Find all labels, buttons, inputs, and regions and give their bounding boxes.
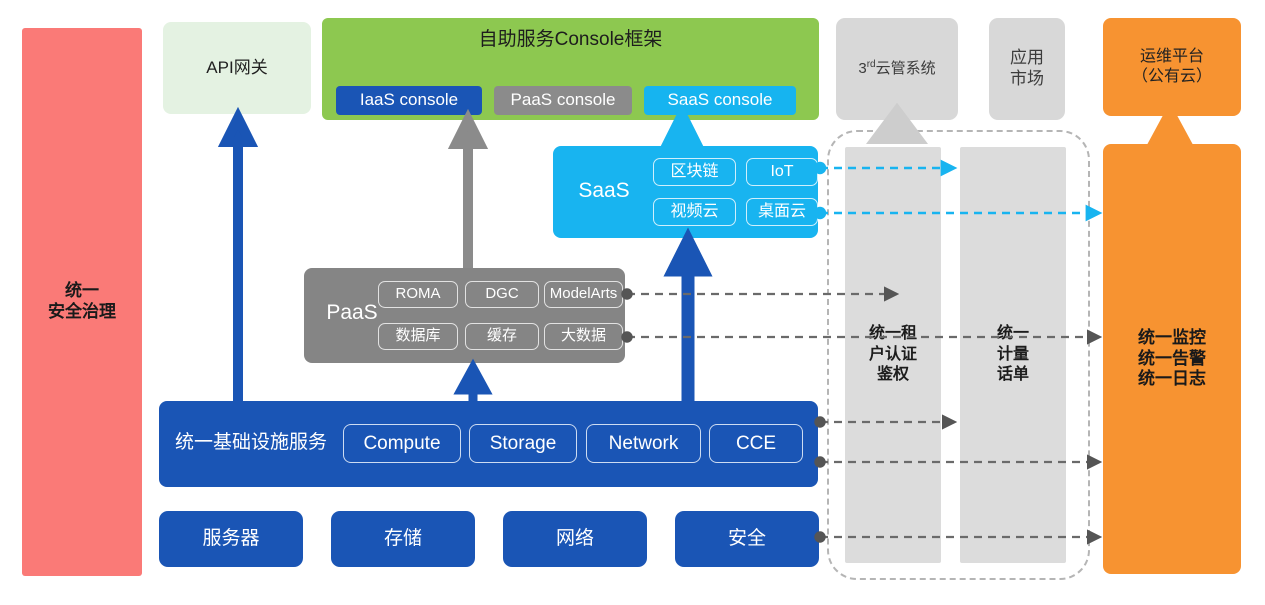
ops-panel-line-3: 统一日志 — [1138, 369, 1206, 388]
hardware-storage-label: 存储 — [384, 527, 422, 550]
paas-chip-dgc-label: DGC — [485, 285, 518, 303]
paas-chip-modelarts[interactable]: ModelArts — [544, 281, 623, 308]
auth-line-1: 统一租 — [869, 325, 917, 342]
saas-chip-desktop-cloud-label: 桌面云 — [758, 202, 806, 222]
ops-platform-label: 运维平台 （公有云） — [1132, 47, 1212, 86]
ops-monitoring-label: 统一监控 统一告警 统一日志 — [1138, 328, 1206, 390]
paas-chip-database[interactable]: 数据库 — [378, 323, 458, 350]
arrow-paas-to-console — [456, 120, 480, 268]
infra-chip-storage-label: Storage — [490, 432, 557, 455]
paas-layer-box: PaaS ROMA DGC ModelArts 数据库 缓存 大数据 — [304, 268, 625, 363]
hardware-box-server[interactable]: 服务器 — [159, 511, 303, 567]
arrow-to-ops-platform — [1157, 116, 1183, 144]
auth-column-label: 统一租 户认证 鉴权 — [869, 324, 917, 386]
auth-line-3: 鉴权 — [877, 366, 909, 383]
ops-monitoring-panel: 统一监控 统一告警 统一日志 — [1103, 144, 1241, 574]
infra-chip-cce[interactable]: CCE — [709, 424, 803, 463]
ops-platform-line-1: 运维平台 — [1140, 48, 1204, 65]
chip-iaas-console[interactable]: IaaS console — [336, 86, 482, 115]
third-cloud-suffix: 云管系统 — [876, 60, 936, 77]
saas-chip-iot-label: IoT — [770, 162, 793, 182]
saas-chip-blockchain-label: 区块链 — [670, 162, 718, 182]
security-line-2: 安全治理 — [48, 302, 116, 321]
arrow-infra-to-api-gateway — [226, 118, 250, 401]
arrow-saas-to-console — [670, 117, 694, 146]
paas-chip-bigdata[interactable]: 大数据 — [544, 323, 623, 350]
auth-line-2: 户认证 — [869, 346, 917, 363]
paas-chip-roma-label: ROMA — [396, 285, 441, 303]
paas-chip-bigdata-label: 大数据 — [561, 327, 606, 345]
paas-chip-modelarts-label: ModelArts — [550, 285, 618, 303]
chip-paas-console-label: PaaS console — [511, 90, 616, 111]
billing-line-1: 统一 — [997, 325, 1029, 342]
hardware-server-label: 服务器 — [202, 527, 259, 550]
ops-panel-line-1: 统一监控 — [1138, 328, 1206, 347]
architecture-diagram: 统一租 户认证 鉴权 统一 计量 话单 统一 安全治理 API网关 自助服务Co… — [0, 0, 1265, 605]
paas-chip-database-label: 数据库 — [395, 327, 440, 345]
saas-chip-video-cloud-label: 视频云 — [670, 202, 718, 222]
infra-chip-network-label: Network — [609, 432, 679, 455]
security-governance-label: 统一 安全治理 — [48, 281, 116, 322]
billing-column-label: 统一 计量 话单 — [997, 324, 1029, 386]
infra-chip-network[interactable]: Network — [586, 424, 701, 463]
api-gateway-label: API网关 — [206, 58, 267, 79]
security-governance-panel: 统一 安全治理 — [22, 28, 142, 576]
saas-chip-blockchain[interactable]: 区块链 — [653, 158, 736, 186]
hardware-box-storage[interactable]: 存储 — [331, 511, 475, 567]
chip-saas-console[interactable]: SaaS console — [644, 86, 796, 115]
infra-chip-cce-label: CCE — [736, 432, 776, 455]
app-market-box: 应用 市场 — [989, 18, 1065, 120]
arrow-infra-to-saas — [674, 242, 702, 401]
unified-infrastructure-box: 统一基础设施服务 Compute Storage Network CCE — [159, 401, 818, 487]
unified-infrastructure-label: 统一基础设施服务 — [175, 431, 327, 454]
infra-chip-storage[interactable]: Storage — [469, 424, 577, 463]
infra-chip-compute-label: Compute — [363, 432, 440, 455]
saas-layer-label: SaaS — [565, 178, 643, 204]
hardware-box-security[interactable]: 安全 — [675, 511, 819, 567]
chip-paas-console[interactable]: PaaS console — [494, 86, 632, 115]
paas-chip-cache-label: 缓存 — [487, 327, 517, 345]
third-cloud-prefix: 3 — [858, 60, 866, 77]
app-market-line-1: 应用 — [1010, 48, 1044, 67]
third-party-cloud-mgmt-label: 3rd云管系统 — [858, 59, 935, 78]
chip-iaas-console-label: IaaS console — [360, 90, 458, 111]
paas-chip-roma[interactable]: ROMA — [378, 281, 458, 308]
paas-chip-cache[interactable]: 缓存 — [465, 323, 539, 350]
hardware-box-network[interactable]: 网络 — [503, 511, 647, 567]
third-party-cloud-mgmt-box: 3rd云管系统 — [836, 18, 958, 120]
infra-chip-compute[interactable]: Compute — [343, 424, 461, 463]
ops-panel-line-2: 统一告警 — [1138, 349, 1206, 368]
hardware-security-label: 安全 — [728, 527, 766, 550]
console-framework-title: 自助服务Console框架 — [322, 28, 819, 51]
saas-chip-iot[interactable]: IoT — [746, 158, 818, 186]
billing-line-3: 话单 — [997, 366, 1029, 383]
third-cloud-superscript: rd — [867, 59, 876, 70]
hardware-network-label: 网络 — [556, 527, 594, 550]
shared-service-billing-column: 统一 计量 话单 — [960, 147, 1066, 563]
app-market-label: 应用 市场 — [1010, 48, 1044, 89]
saas-layer-box: SaaS 区块链 IoT 视频云 桌面云 — [553, 146, 818, 238]
billing-line-2: 计量 — [997, 346, 1029, 363]
ops-platform-line-2: （公有云） — [1132, 68, 1212, 85]
saas-chip-desktop-cloud[interactable]: 桌面云 — [746, 198, 818, 226]
app-market-line-2: 市场 — [1010, 69, 1044, 88]
security-line-1: 统一 — [65, 281, 99, 300]
chip-saas-console-label: SaaS console — [668, 90, 773, 111]
console-framework-box: 自助服务Console框架 IaaS console PaaS console … — [322, 18, 819, 120]
ops-platform-box: 运维平台 （公有云） — [1103, 18, 1241, 116]
arrow-infra-to-paas — [461, 368, 485, 401]
saas-chip-video-cloud[interactable]: 视频云 — [653, 198, 736, 226]
api-gateway-box: API网关 — [163, 22, 311, 114]
shared-service-auth-column: 统一租 户认证 鉴权 — [845, 147, 941, 563]
paas-chip-dgc[interactable]: DGC — [465, 281, 539, 308]
